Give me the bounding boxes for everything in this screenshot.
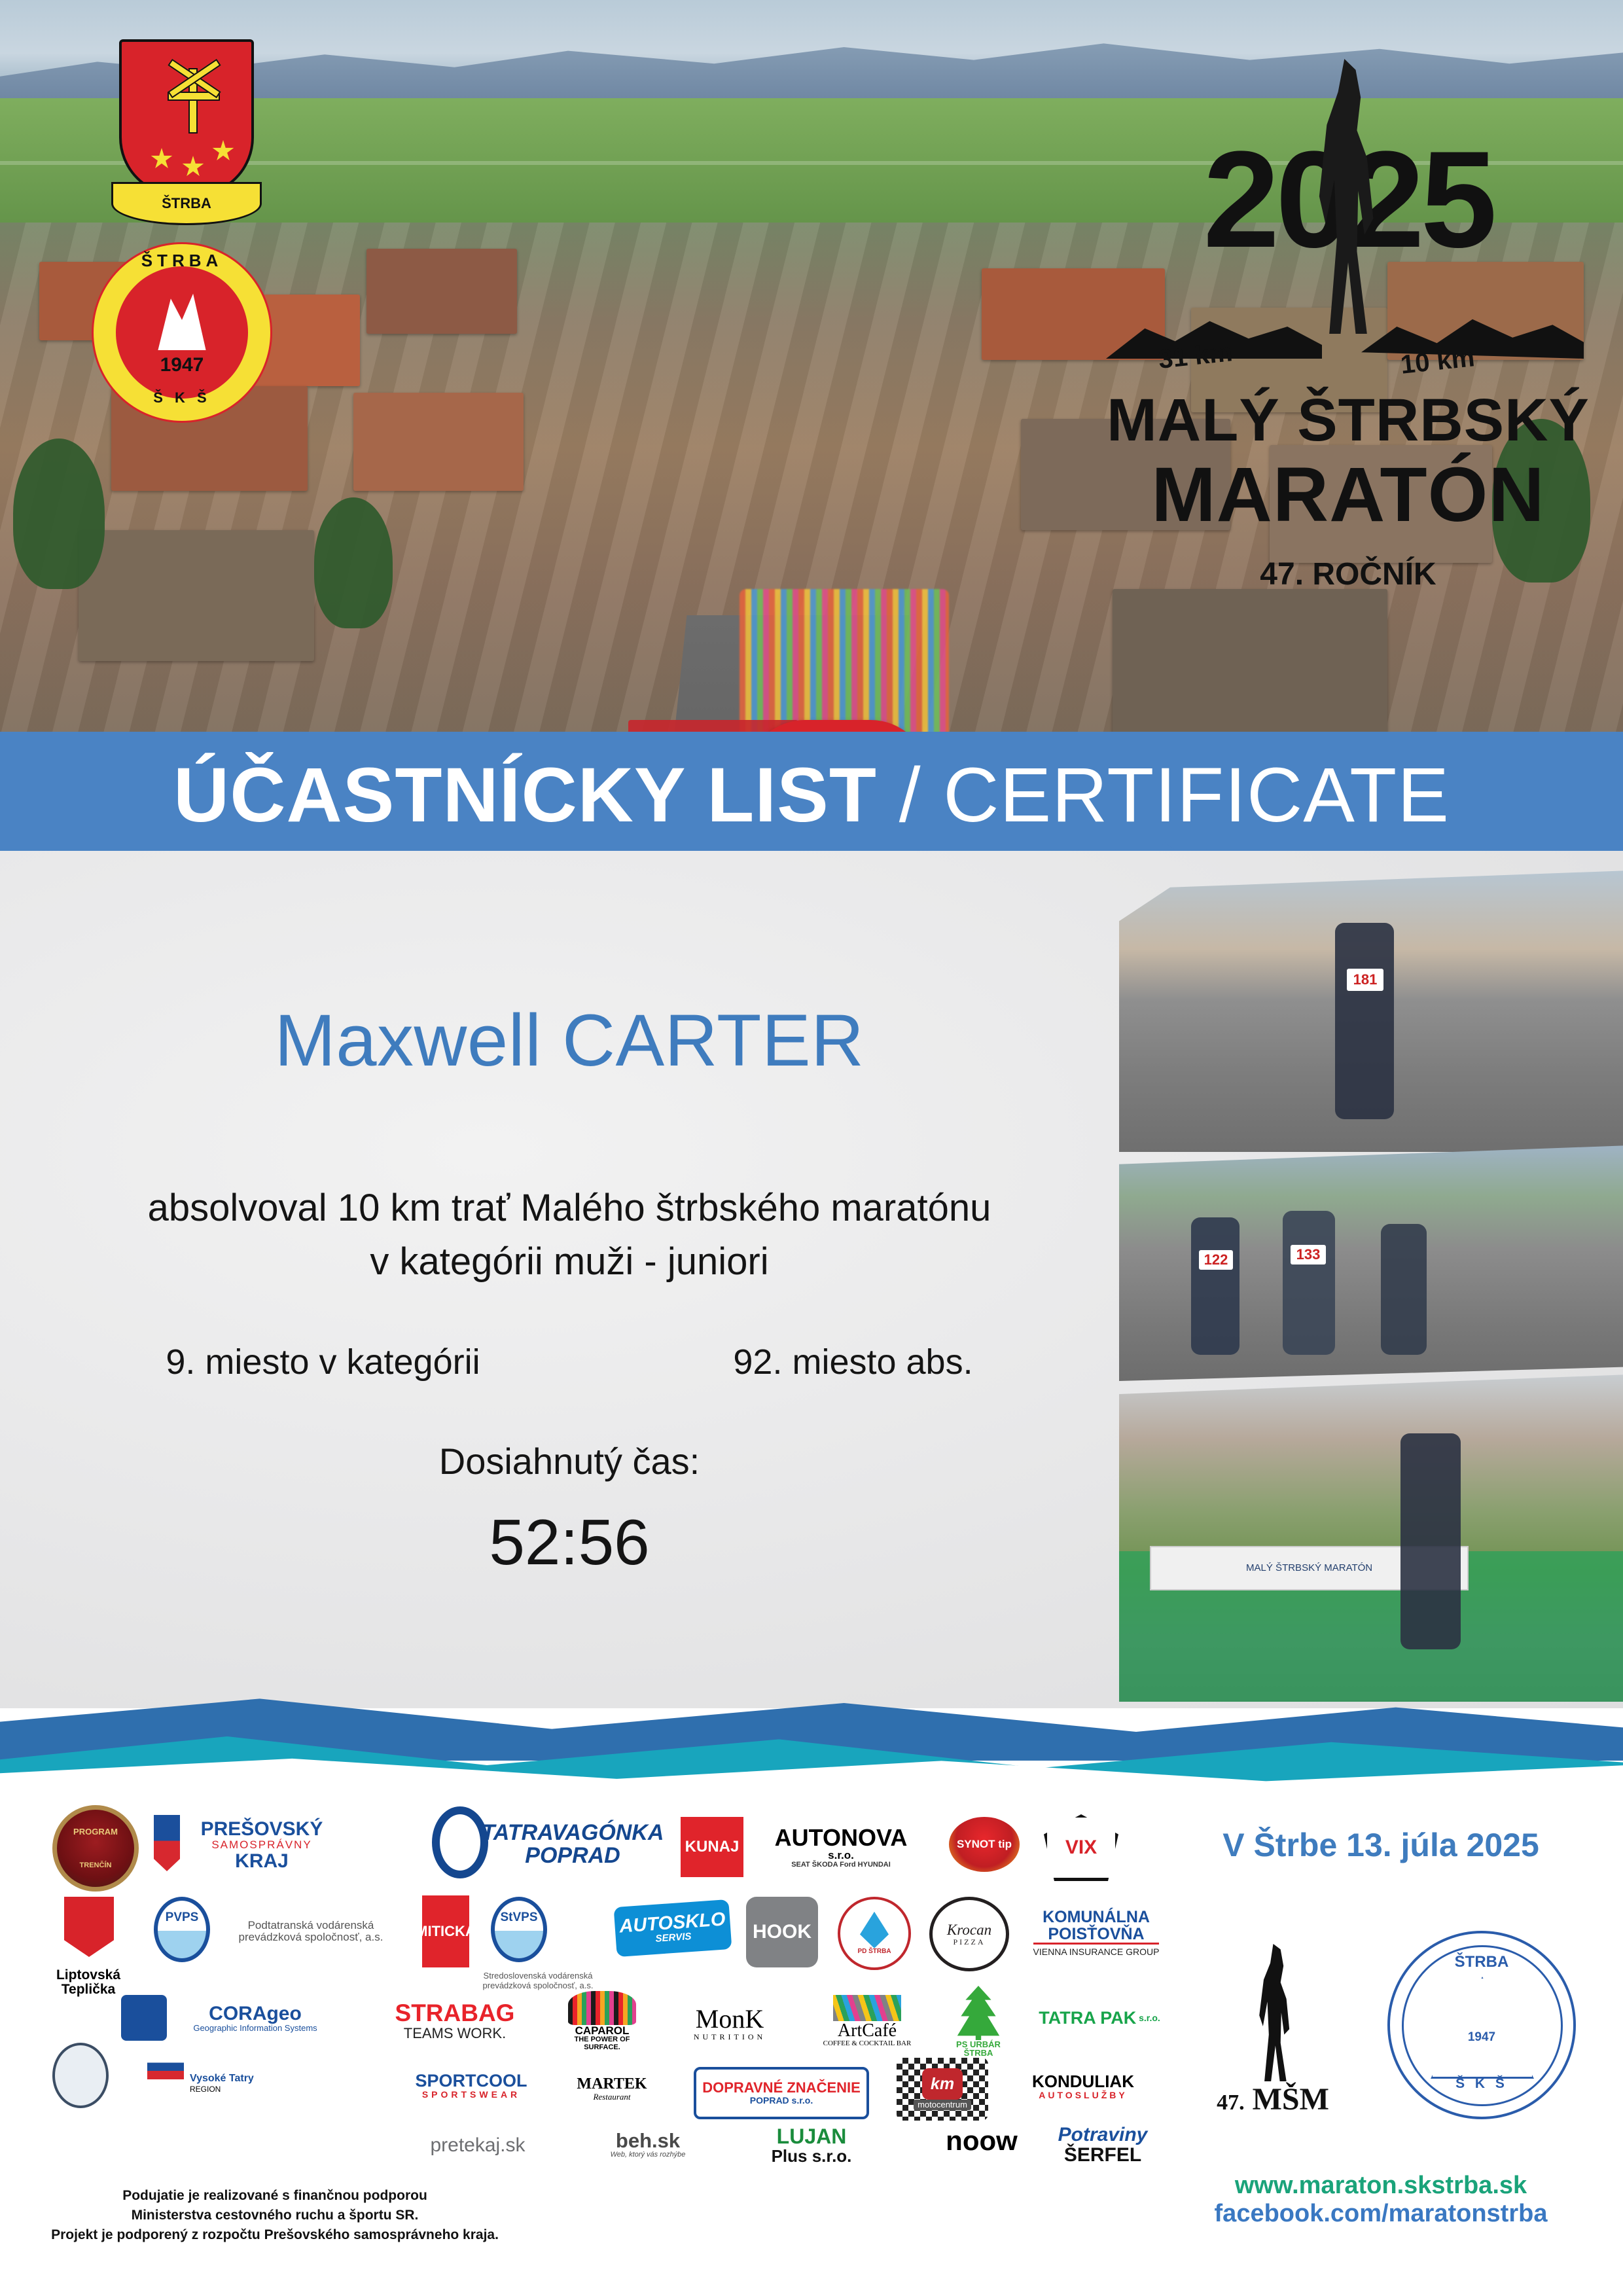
- arms-star-icon: [182, 156, 204, 178]
- sponsor-lujan: LUJAN Plus s.r.o.: [746, 2119, 877, 2172]
- disclaimer-line1: Podujatie je realizované s finančnou pod…: [39, 2186, 510, 2206]
- website-link[interactable]: www.maraton.skstrba.sk: [1152, 2172, 1610, 2200]
- sponsor-kunaj: KUNAJ: [681, 1817, 743, 1877]
- facebook-link[interactable]: facebook.com/maratonstrba: [1152, 2200, 1610, 2228]
- bib-number: 181: [1347, 969, 1383, 991]
- msm-runner-icon: [1258, 1944, 1294, 2081]
- rooftop: [366, 249, 517, 334]
- race-name-line1: MALÝ ŠTRBSKÝ: [1086, 386, 1610, 454]
- race-name-line2: MARATÓN: [1086, 454, 1610, 535]
- arms-cross-icon: [161, 68, 224, 131]
- sponsor-km-motocentrum: km motocentrum: [897, 2058, 988, 2121]
- hero-photo: ŠTART ŠTRBA ŠTRBA 1947: [0, 0, 1623, 759]
- place-absolute: 92. miesto abs.: [733, 1342, 972, 1382]
- finisher-photo: 181: [1119, 870, 1623, 1152]
- sponsor-artcafe: ArtCafé COFFEE & COCKTAIL BAR: [818, 1988, 916, 2054]
- sponsor-logos: PROGRAM TRENČÍN PREŠOVSKÝ SAMOSPRÁVNY KR…: [33, 1799, 1139, 2191]
- title-english: CERTIFICATE: [943, 752, 1450, 838]
- sponsor-noow: noow: [923, 2119, 1041, 2162]
- sponsor-vysoke-tatry: [39, 2108, 131, 2138]
- sks-bottom-label: Š K Š: [1390, 2076, 1573, 2092]
- sponsor-ministerstvo: Vysoké Tatry REGION: [190, 2051, 353, 2117]
- strba-coat-of-arms: ŠTRBA: [111, 39, 262, 229]
- disclaimer-line3: Projekt je podporený z rozpočtu Prešovsk…: [39, 2225, 510, 2245]
- sks-club-mark: ŠTRBA 1947 Š K Š: [1387, 1931, 1576, 2119]
- distance-marks: 31 km 10 km: [1086, 308, 1610, 386]
- page-title: ÚČASTNÍCKY LIST / CERTIFICATE: [0, 746, 1623, 844]
- sponsor-monk: MonK NUTRITION: [661, 1995, 798, 2051]
- runner-figure: [1400, 1433, 1461, 1649]
- date-place-label: V Štrbe 13. júla 2025: [1171, 1826, 1590, 1864]
- finish-line-photo: MALÝ ŠTRBSKÝ MARATÓN: [1119, 1374, 1623, 1702]
- msm-mark-label: 47. MŠM: [1198, 2081, 1348, 2117]
- sponsor-komunalna-poistovna: KOMUNÁLNA POISŤOVŇA VIENNA INSURANCE GRO…: [1014, 1903, 1178, 1962]
- sks-year-label: 1947: [1390, 2030, 1573, 2045]
- water-drop-icon: [860, 1912, 889, 1948]
- sponsor-presovsky-kraj: PREŠOVSKÝ SAMOSPRÁVNY KRAJ: [190, 1809, 334, 1881]
- sponsor-pvps-label: Podtatranská vodárenská prevádzková spol…: [219, 1910, 402, 1953]
- sponsor-martek: MARTEK Restaurant: [550, 2060, 674, 2117]
- sponsor-dopravne-znacenie: DOPRAVNÉ ZNAČENIE POPRAD s.r.o.: [694, 2067, 869, 2119]
- rooftop: [79, 530, 314, 661]
- runner-figure: [1335, 923, 1394, 1119]
- artcafe-stripes-icon: [833, 1995, 901, 2021]
- sponsor-ministry-flag-icon: [147, 2054, 184, 2080]
- sponsor-pd-strba: PD ŠTRBA: [838, 1897, 911, 1970]
- sponsor-tatravagonka: TATRAVAGÓNKA POPRAD: [491, 1813, 654, 1876]
- club-year-label: 1947: [94, 354, 270, 376]
- sponsor-program: PROGRAM TRENČÍN: [52, 1805, 139, 1892]
- arms-star-icon: [212, 140, 234, 162]
- title-slovak: ÚČASTNÍCKY LIST: [173, 752, 877, 838]
- arms-ribbon-label: ŠTRBA: [111, 182, 262, 225]
- sponsor-tatrapak: TATRA PAK s.r.o.: [1027, 1995, 1171, 2041]
- sponsor-konduliak: KONDULIAK AUTOSLUŽBY: [1001, 2060, 1165, 2113]
- tree: [13, 439, 105, 589]
- sponsor-stvps-icon: StVPS: [491, 1897, 547, 1962]
- msm-mark: 47. MŠM: [1198, 1937, 1348, 2153]
- msm-edition-label: 47.: [1217, 2090, 1245, 2115]
- sponsor-synottip: SYNOT tip: [949, 1817, 1020, 1872]
- runner-figure: [1381, 1224, 1427, 1355]
- tree-icon: [955, 1986, 1001, 2040]
- arms-shield: [119, 39, 254, 196]
- sponsor-psk-flag-icon: [154, 1810, 180, 1876]
- photo-collage: 181 122 133 MALÝ ŠTRBSKÝ MARATÓN: [1113, 870, 1623, 1708]
- runners-group-photo: 122 133: [1119, 1145, 1623, 1381]
- funding-disclaimer: Podujatie je realizované s finančnou pod…: [39, 2186, 510, 2245]
- tree: [314, 497, 393, 628]
- bib-number: 133: [1291, 1245, 1326, 1265]
- sponsor-strabag: STRABAG TEAMS WORK.: [373, 1995, 537, 2047]
- sponsor-pvps-icon: PVPS: [154, 1897, 210, 1962]
- sponsor-krocan: Krocan PIZZA: [929, 1897, 1009, 1971]
- sponsor-corageo: CORAgeo Geographic Information Systems: [173, 1995, 337, 2041]
- sponsor-ps-urbar: PS URBÁR ŠTRBA: [942, 1986, 1014, 2058]
- sponsor-liptovska-teplicka: Liptovská Teplička: [46, 1961, 131, 2004]
- sponsor-sportcool: SPORTCOOL SPORTSWEAR: [399, 2060, 543, 2110]
- participant-name: Maxwell CARTER: [39, 998, 1099, 1083]
- sponsor-vysoke-tatry-icon: [52, 2047, 109, 2104]
- sponsor-tatravagonka-icon: [432, 1814, 488, 1871]
- club-bottom-label: Š K Š: [94, 389, 270, 406]
- sponsor-vix: VIX: [1044, 1814, 1118, 1881]
- place-category: 9. miesto v kategórii: [166, 1342, 480, 1382]
- certificate-description: absolvoval 10 km trať Malého štrbského m…: [39, 1181, 1099, 1289]
- description-line2: v kategórii muži - juniori: [39, 1235, 1099, 1289]
- msm-abbrev-label: MŠM: [1253, 2082, 1329, 2117]
- disclaimer-line2: Ministerstva cestovného ruchu a športu S…: [39, 2206, 510, 2225]
- runner-figure: [1283, 1211, 1335, 1355]
- runner-crowd: [740, 589, 949, 740]
- race-name: MALÝ ŠTRBSKÝ MARATÓN: [1086, 386, 1610, 535]
- rooftop: [1113, 589, 1387, 740]
- title-separator: /: [877, 752, 943, 838]
- sponsor-hook: HOOK: [746, 1897, 818, 1967]
- sponsor-miticka: MITICKÁ: [422, 1895, 469, 1967]
- club-top-label: ŠTRBA: [94, 251, 270, 271]
- sponsor-corageo-icon: [121, 1995, 167, 2041]
- time-label: Dosiahnutý čas:: [39, 1440, 1099, 1482]
- sponsor-liptovska-teplicka-icon: [64, 1897, 114, 1957]
- contact-links: www.maraton.skstrba.sk facebook.com/mara…: [1152, 2172, 1610, 2228]
- sponsor-caparol: CAPAROL THE POWER OF SURFACE.: [563, 1988, 641, 2054]
- time-value: 52:56: [39, 1505, 1099, 1579]
- sponsor-potraviny-serfel: Potraviny ŠERFEL: [1034, 2117, 1171, 2173]
- sponsor-autonova: AUTONOVA s.r.o. SEAT ŠKODA Ford HYUNDAI: [759, 1814, 923, 1880]
- sponsor-pretekaj: pretekaj.sk: [399, 2126, 556, 2165]
- caparol-elephant-icon: [568, 1991, 636, 2025]
- sks-top-label: ŠTRBA: [1390, 1953, 1573, 1971]
- rooftop: [353, 393, 524, 491]
- sponsor-autosklo: AUTOSKLO SERVIS: [614, 1899, 732, 1957]
- runner-figure: [1191, 1217, 1240, 1355]
- bib-number: 122: [1199, 1250, 1233, 1270]
- race-logo: 2025 31 km 10 km MALÝ ŠTRBSKÝ MARATÓN 47…: [1086, 33, 1610, 609]
- placement-row: 9. miesto v kategórii 92. miesto abs.: [39, 1342, 1099, 1382]
- race-edition-label: 47. ROČNÍK: [1086, 556, 1610, 592]
- sponsor-behsk: beh.sk Web, ktorý vás rozhýbe: [576, 2123, 720, 2166]
- certificate-page: ŠTART ŠTRBA ŠTRBA 1947: [0, 0, 1623, 2296]
- description-line1: absolvoval 10 km trať Malého štrbského m…: [39, 1181, 1099, 1235]
- runner-silhouette-icon: [1317, 59, 1380, 334]
- arms-star-icon: [151, 148, 173, 170]
- sports-club-logo: ŠTRBA 1947 Š K Š: [92, 242, 272, 423]
